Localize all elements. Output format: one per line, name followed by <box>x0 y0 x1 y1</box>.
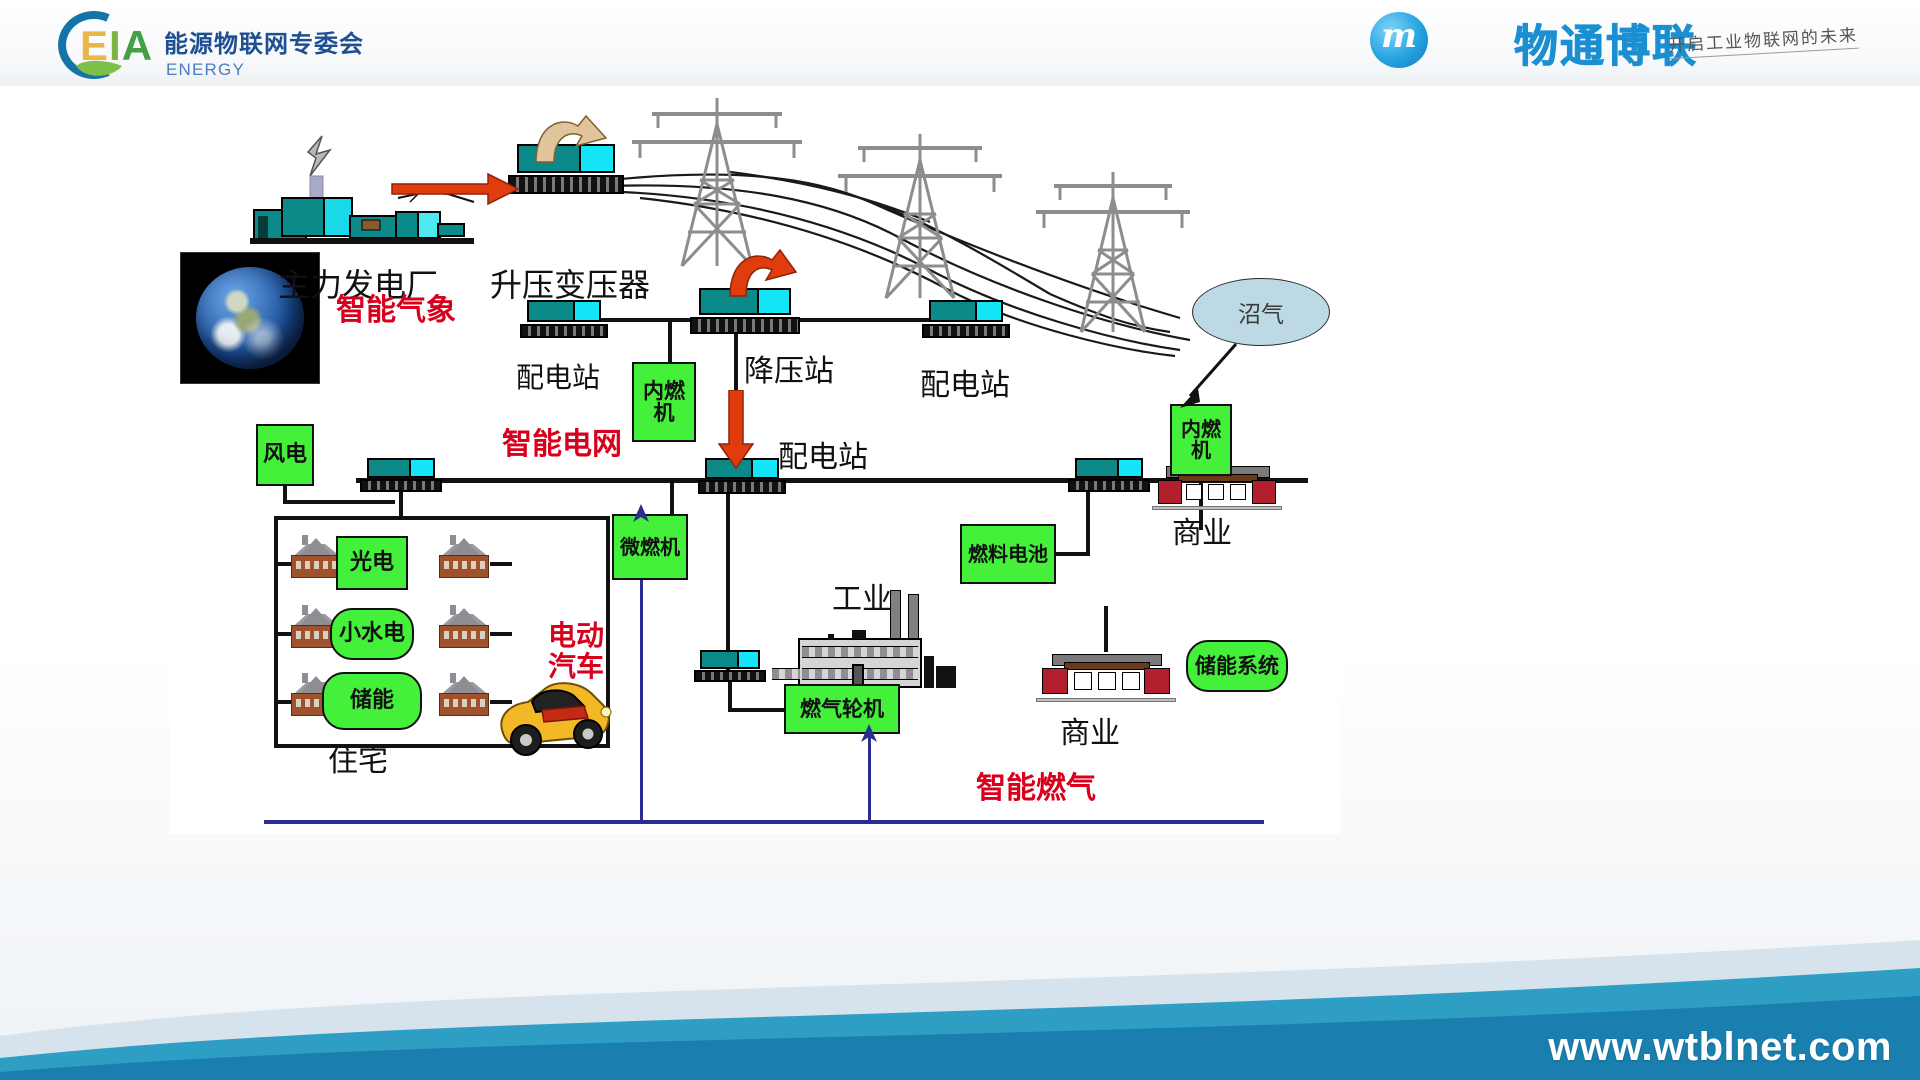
wtb-circle-logo: m <box>1370 12 1428 68</box>
label-smart-weather: 智能气象 <box>336 294 456 328</box>
eia-en-name: ENERGY <box>166 60 245 80</box>
label-electric-vehicle: 电动 汽车 <box>548 620 604 683</box>
footer-url: www.wtblnet.com <box>1548 1025 1892 1070</box>
green-box-micro-turbine[interactable]: 微燃机 <box>612 514 688 580</box>
curved-arrow-icon <box>528 112 614 164</box>
red-arrow-icon <box>718 390 754 470</box>
house-feed <box>490 562 512 566</box>
label-industry: 工业 <box>832 574 892 618</box>
smart-gas-bus <box>264 820 1264 824</box>
page-header: EIA 能源物联网专委会 ENERGY m 物通博联 开启工业物联网的未来 <box>0 0 1920 86</box>
red-arrow-icon <box>390 172 520 206</box>
slide-diagram: 主力发电厂 升压变压器 智能气象 配电站 降压站 配电站 内燃机 <box>170 72 1340 834</box>
green-box-label: 储能 <box>350 689 394 712</box>
ev-line1: 电动 <box>548 620 604 651</box>
arrow-biogas-to-ice <box>1170 340 1242 412</box>
page-footer: www.wtblnet.com <box>0 940 1920 1080</box>
green-box-label: 燃气轮机 <box>800 698 884 720</box>
house-icon <box>436 538 492 580</box>
green-box-gas-turbine[interactable]: 燃气轮机 <box>784 684 900 734</box>
label-residential: 住宅 <box>328 736 388 780</box>
substation-icon <box>1068 458 1150 492</box>
house-icon <box>436 608 492 650</box>
green-box-wind-power[interactable]: 风电 <box>256 424 314 486</box>
label-step-up-transformer: 升压变压器 <box>490 260 650 306</box>
house-feed <box>490 632 512 636</box>
green-box-ice-center[interactable]: 内燃机 <box>632 362 696 442</box>
ev-line2: 汽车 <box>548 651 604 682</box>
ellipse-biogas[interactable]: 沼气 <box>1192 278 1330 346</box>
substation-icon <box>922 300 1010 338</box>
label-smart-grid: 智能电网 <box>502 428 622 462</box>
green-box-energy-storage[interactable]: 储能 <box>322 672 422 730</box>
green-box-label: 燃料电池 <box>968 544 1048 565</box>
label-commercial-lower: 商业 <box>1060 708 1120 752</box>
wire-wind-right <box>283 500 395 504</box>
substation-icon <box>360 458 442 492</box>
gas-arrow-icon <box>860 724 878 746</box>
label-distribution-station-left: 配电站 <box>516 356 600 396</box>
green-box-ice-right[interactable]: 内燃机 <box>1170 404 1232 476</box>
electric-car-icon <box>488 674 616 760</box>
green-box-label: 内燃机 <box>634 380 694 424</box>
label-smart-gas: 智能燃气 <box>976 772 1096 806</box>
green-box-storage-system[interactable]: 储能系统 <box>1186 640 1288 692</box>
label-distribution-station-center: 配电站 <box>778 432 868 476</box>
curved-arrow-icon <box>724 248 802 298</box>
eia-letters: EIA <box>80 22 153 70</box>
ellipse-label: 沼气 <box>1238 295 1284 329</box>
gas-arrow-icon <box>632 504 650 526</box>
residential-top-left <box>274 516 402 520</box>
commercial-building-icon <box>1036 644 1176 706</box>
green-box-label: 光电 <box>350 551 394 574</box>
green-box-label: 风电 <box>263 443 307 466</box>
label-commercial-upper: 商业 <box>1172 508 1232 552</box>
green-box-fuel-cell[interactable]: 燃料电池 <box>960 524 1056 584</box>
wire-fuelcell-right <box>1056 552 1090 556</box>
eia-cn-name: 能源物联网专委会 <box>164 24 364 59</box>
label-distribution-station-right: 配电站 <box>920 360 1010 404</box>
green-box-photovoltaic[interactable]: 光电 <box>336 536 408 590</box>
house-icon <box>436 676 492 718</box>
green-box-label: 小水电 <box>339 622 405 645</box>
transmission-pylon-icon <box>830 120 1010 300</box>
residential-top-right <box>402 516 610 520</box>
label-step-down-station: 降压站 <box>744 346 834 390</box>
green-box-label: 储能系统 <box>1195 655 1279 677</box>
transmission-pylon-icon <box>1028 160 1198 335</box>
substation-icon <box>694 650 766 682</box>
wire-to-industry <box>726 483 730 677</box>
green-box-label: 内燃机 <box>1172 419 1230 461</box>
wtb-mark-glyph: m <box>1370 16 1428 56</box>
wire-fuelcell-up <box>1086 483 1090 555</box>
green-box-small-hydro[interactable]: 小水电 <box>330 608 414 660</box>
green-box-label: 微燃机 <box>620 537 680 558</box>
transmission-pylon-icon <box>622 84 812 269</box>
eia-logo: EIA 能源物联网专委会 ENERGY <box>46 8 466 84</box>
